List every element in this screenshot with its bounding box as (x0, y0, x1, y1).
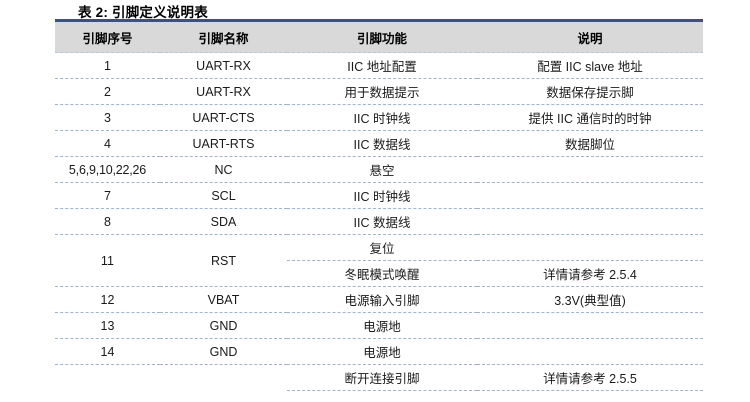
column-header-pin-no: 引脚序号 (55, 21, 160, 53)
cell-remark (477, 209, 703, 235)
cell-remark: 3.3V(典型值) (477, 287, 703, 313)
table-row: 断开连接引脚 详情请参考 2.5.5 (55, 365, 703, 391)
cell-pin-name (160, 365, 287, 391)
cell-pin-no: 2 (55, 79, 160, 105)
cell-remark: 提供 IIC 通信时的时钟 (477, 105, 703, 131)
cell-remark: 配置 IIC slave 地址 (477, 53, 703, 79)
cell-remark: 详情请参考 2.5.5 (477, 365, 703, 391)
cell-pin-no: 12 (55, 287, 160, 313)
table-row: 3 UART-CTS IIC 时钟线 提供 IIC 通信时的时钟 (55, 105, 703, 131)
header-row: 引脚序号 引脚名称 引脚功能 说明 (55, 21, 703, 53)
cell-pin-no: 1 (55, 53, 160, 79)
cell-pin-name: UART-RTS (160, 131, 287, 157)
cell-pin-name: NC (160, 157, 287, 183)
column-header-pin-name: 引脚名称 (160, 21, 287, 53)
cell-function: IIC 时钟线 (287, 183, 477, 209)
cell-pin-name: UART-CTS (160, 105, 287, 131)
cell-pin-no: 14 (55, 339, 160, 365)
table-row: 14 GND 电源地 (55, 339, 703, 365)
table-row: 7 SCL IIC 时钟线 (55, 183, 703, 209)
cell-pin-name: UART-RX (160, 53, 287, 79)
column-header-function: 引脚功能 (287, 21, 477, 53)
cell-pin-no: 8 (55, 209, 160, 235)
cell-pin-no: 4 (55, 131, 160, 157)
cell-remark (477, 235, 703, 261)
column-header-remark: 说明 (477, 21, 703, 53)
table-row: 5,6,9,10,22,26 NC 悬空 (55, 157, 703, 183)
cell-function: IIC 数据线 (287, 209, 477, 235)
cell-pin-no: 11 (55, 235, 160, 287)
cell-remark (477, 313, 703, 339)
document-page: 表 2: 引脚定义说明表 引脚序号 引脚名称 引脚功能 说明 1 UART-RX… (0, 0, 750, 402)
cell-pin-no: 5,6,9,10,22,26 (55, 157, 160, 183)
table-row: 1 UART-RX IIC 地址配置 配置 IIC slave 地址 (55, 53, 703, 79)
cell-remark (477, 157, 703, 183)
cell-pin-name: GND (160, 313, 287, 339)
cell-pin-name: SCL (160, 183, 287, 209)
cell-pin-name: UART-RX (160, 79, 287, 105)
cell-pin-no: 3 (55, 105, 160, 131)
cell-function: 悬空 (287, 157, 477, 183)
cell-pin-name: VBAT (160, 287, 287, 313)
cell-remark: 数据保存提示脚 (477, 79, 703, 105)
cell-function: 冬眠模式唤醒 (287, 261, 477, 287)
cell-function: 电源地 (287, 313, 477, 339)
table-row: 2 UART-RX 用于数据提示 数据保存提示脚 (55, 79, 703, 105)
cell-pin-no: 13 (55, 313, 160, 339)
cell-pin-no: 7 (55, 183, 160, 209)
table-row: 11 RST 复位 (55, 235, 703, 261)
cell-function: 电源输入引脚 (287, 287, 477, 313)
pin-definition-table: 引脚序号 引脚名称 引脚功能 说明 1 UART-RX IIC 地址配置 配置 … (55, 19, 703, 391)
cell-remark (477, 183, 703, 209)
table-row: 13 GND 电源地 (55, 313, 703, 339)
table-caption: 表 2: 引脚定义说明表 (78, 1, 208, 21)
cell-function: 复位 (287, 235, 477, 261)
table-row: 12 VBAT 电源输入引脚 3.3V(典型值) (55, 287, 703, 313)
table-row: 4 UART-RTS IIC 数据线 数据脚位 (55, 131, 703, 157)
cell-function: 电源地 (287, 339, 477, 365)
cell-remark: 详情请参考 2.5.4 (477, 261, 703, 287)
cell-remark (477, 339, 703, 365)
cell-function: IIC 数据线 (287, 131, 477, 157)
table-row: 8 SDA IIC 数据线 (55, 209, 703, 235)
table-header: 引脚序号 引脚名称 引脚功能 说明 (55, 21, 703, 53)
cell-pin-name: GND (160, 339, 287, 365)
cell-pin-no (55, 365, 160, 391)
cell-pin-name: RST (160, 235, 287, 287)
cell-pin-name: SDA (160, 209, 287, 235)
table-body: 1 UART-RX IIC 地址配置 配置 IIC slave 地址 2 UAR… (55, 53, 703, 391)
cell-function: IIC 地址配置 (287, 53, 477, 79)
cell-function: IIC 时钟线 (287, 105, 477, 131)
cell-function: 断开连接引脚 (287, 365, 477, 391)
cell-remark: 数据脚位 (477, 131, 703, 157)
cell-function: 用于数据提示 (287, 79, 477, 105)
